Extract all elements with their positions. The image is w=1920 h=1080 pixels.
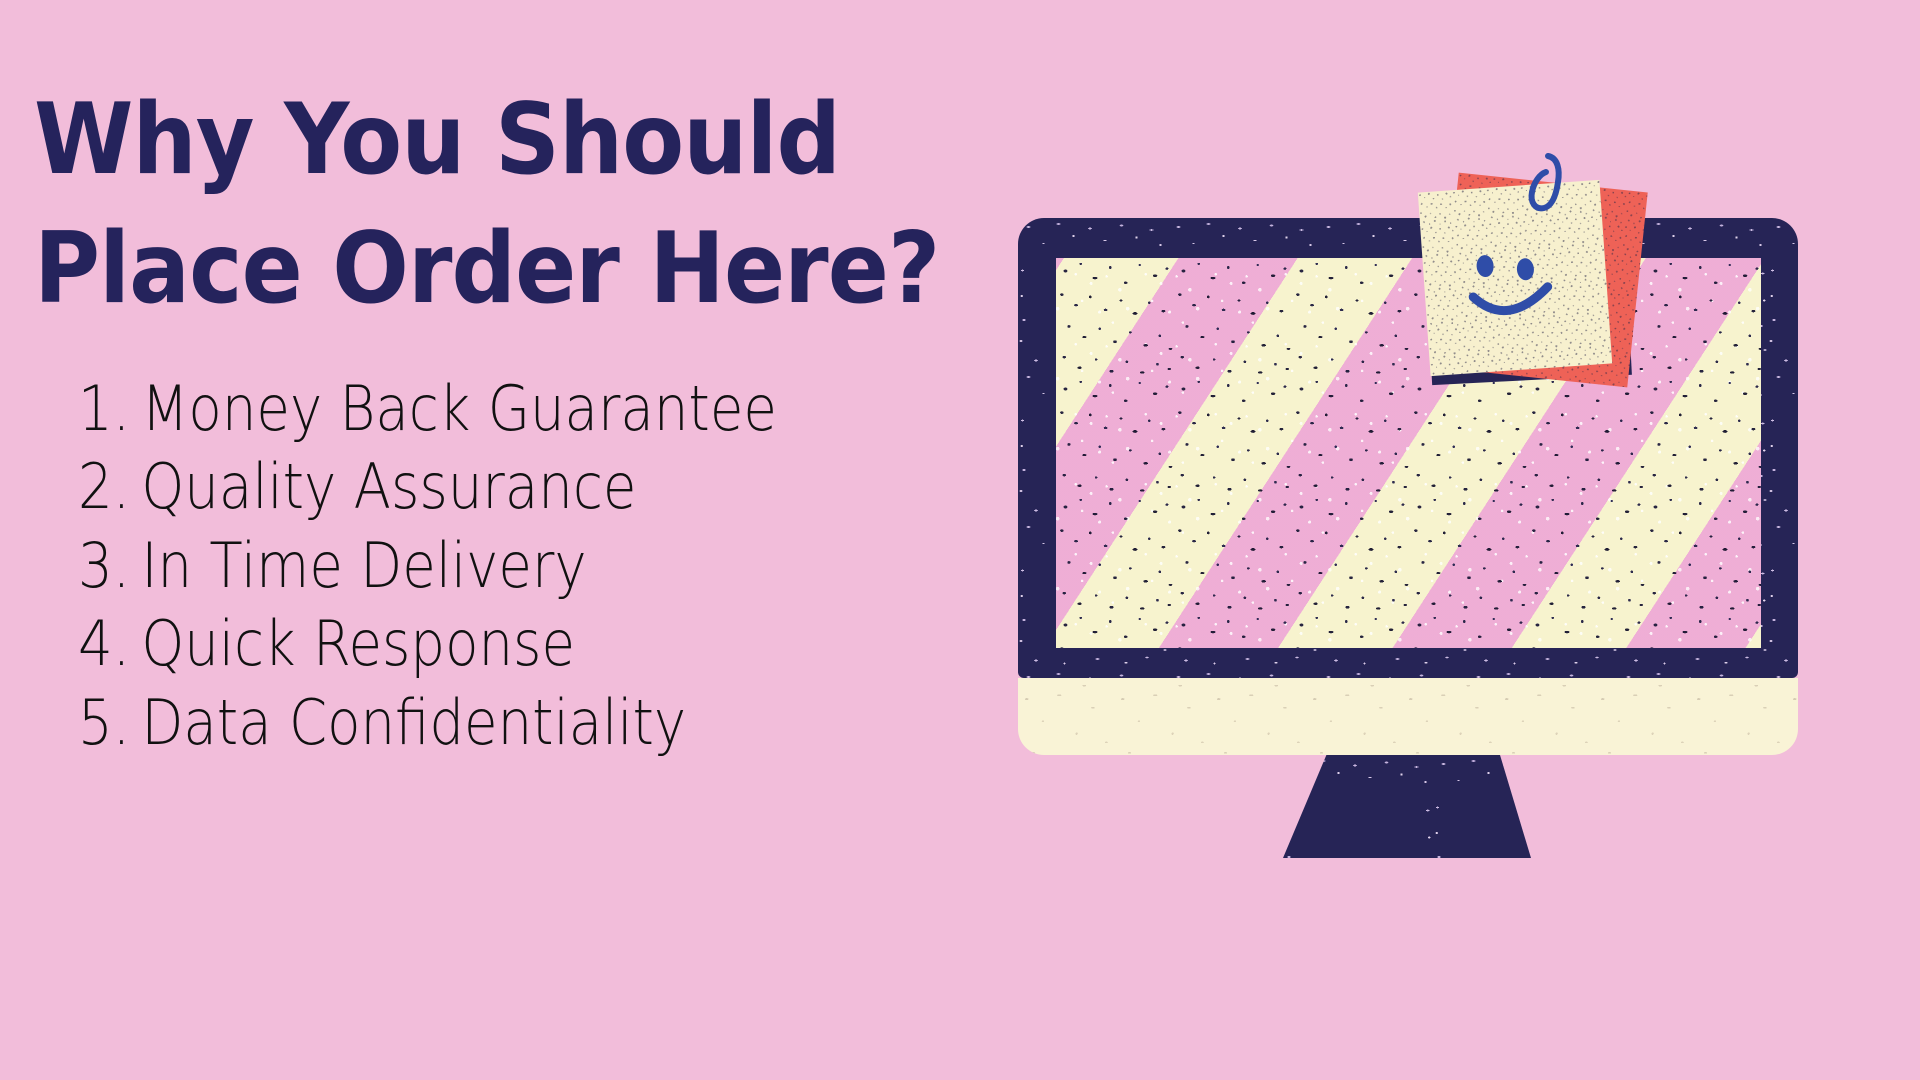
text-column: Why You Should Place Order Here? 1. Mone… bbox=[0, 0, 1030, 1080]
list-item-number: 1. bbox=[78, 370, 141, 448]
smiley-face-icon bbox=[1418, 180, 1612, 376]
feature-list: 1. Money Back Guarantee 2. Quality Assur… bbox=[78, 370, 1008, 762]
list-item-number: 5. bbox=[78, 684, 141, 762]
list-item: 1. Money Back Guarantee bbox=[78, 370, 896, 448]
sticky-note-front bbox=[1418, 180, 1612, 376]
page-title: Why You Should Place Order Here? bbox=[34, 76, 945, 335]
poster-canvas: Why You Should Place Order Here? 1. Mone… bbox=[0, 0, 1920, 1080]
stand-shape bbox=[1283, 755, 1531, 858]
monitor-stand bbox=[1283, 755, 1531, 858]
list-item-number: 4. bbox=[78, 605, 141, 683]
monitor-chin-panel bbox=[1018, 678, 1798, 755]
list-item-label: Quality Assurance bbox=[141, 448, 636, 526]
list-item: 2. Quality Assurance bbox=[78, 448, 896, 526]
list-item-label: In Time Delivery bbox=[141, 527, 586, 605]
list-item-number: 3. bbox=[78, 527, 141, 605]
chin-grain-texture bbox=[1018, 678, 1798, 755]
monitor-bezel bbox=[1018, 218, 1798, 678]
note-grain-texture bbox=[1418, 180, 1612, 376]
list-item-label: Quick Response bbox=[141, 605, 575, 683]
monitor-illustration bbox=[1018, 218, 1798, 755]
list-item: 3. In Time Delivery bbox=[78, 527, 896, 605]
list-item-label: Money Back Guarantee bbox=[141, 370, 777, 448]
list-item: 4. Quick Response bbox=[78, 605, 896, 683]
list-item-number: 2. bbox=[78, 448, 141, 526]
list-item: 5. Data Confidentiality bbox=[78, 684, 896, 762]
sticky-note-cluster bbox=[1422, 176, 1672, 401]
stand-grain-texture bbox=[1283, 755, 1531, 858]
list-item-label: Data Confidentiality bbox=[141, 684, 686, 762]
